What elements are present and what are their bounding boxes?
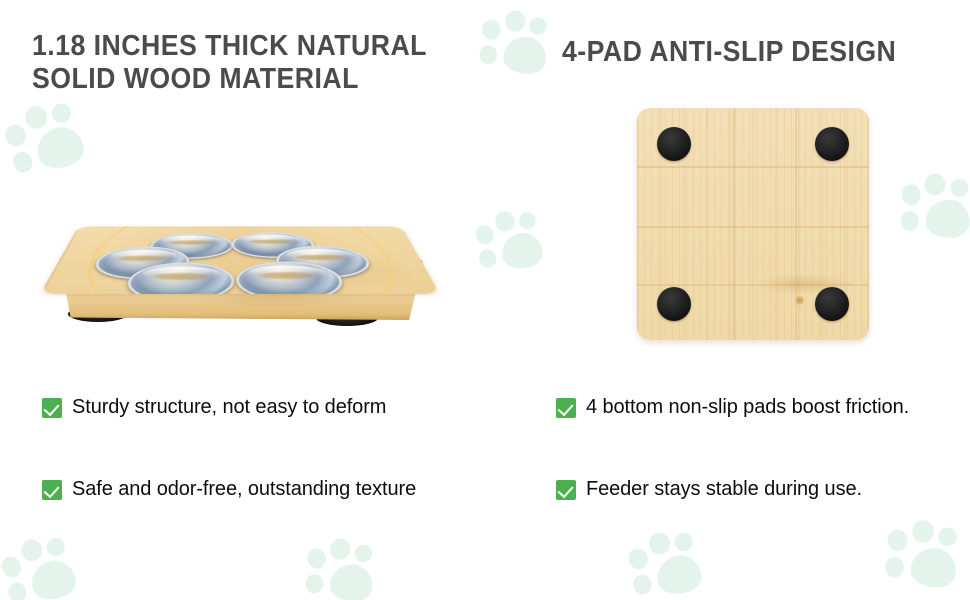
check-box-icon: [42, 398, 62, 418]
list-item: 4 bottom non-slip pads boost friction.: [556, 396, 909, 419]
paw-print-icon: [473, 5, 558, 90]
anti-slip-pad: [657, 287, 691, 321]
paw-print-icon: [300, 534, 383, 600]
bullet-text: Sturdy structure, not easy to deform: [72, 396, 386, 419]
anti-slip-pad: [815, 127, 849, 161]
panel-left-heading: 1.18 INCHES THICK NATURAL SOLID WOOD MAT…: [32, 30, 464, 97]
bullet-text: Feeder stays stable during use.: [586, 478, 862, 501]
wood-knot: [795, 296, 804, 305]
product-image-feeder-perspective: [40, 140, 440, 360]
anti-slip-pad: [657, 127, 691, 161]
paw-print-icon: [879, 515, 970, 600]
paw-print-icon: [0, 532, 86, 600]
board-underside-surface: [637, 108, 869, 340]
paw-print-icon: [896, 170, 970, 254]
check-box-icon: [42, 480, 62, 500]
check-box-icon: [556, 480, 576, 500]
paw-print-icon: [474, 208, 549, 283]
panel-right-heading: 4-PAD ANTI-SLIP DESIGN: [562, 36, 958, 69]
list-item: Safe and odor-free, outstanding texture: [42, 478, 416, 501]
bullet-text: 4 bottom non-slip pads boost friction.: [586, 396, 909, 419]
list-item: Feeder stays stable during use.: [556, 478, 862, 501]
check-box-icon: [556, 398, 576, 418]
infographic-canvas: 1.18 INCHES THICK NATURAL SOLID WOOD MAT…: [0, 0, 970, 600]
product-image-board-underside: [637, 108, 869, 340]
board-top-surface: [40, 226, 440, 294]
anti-slip-pad: [815, 287, 849, 321]
paw-print-icon: [626, 528, 710, 600]
list-item: Sturdy structure, not easy to deform: [42, 396, 386, 419]
bullet-text: Safe and odor-free, outstanding texture: [72, 478, 416, 501]
